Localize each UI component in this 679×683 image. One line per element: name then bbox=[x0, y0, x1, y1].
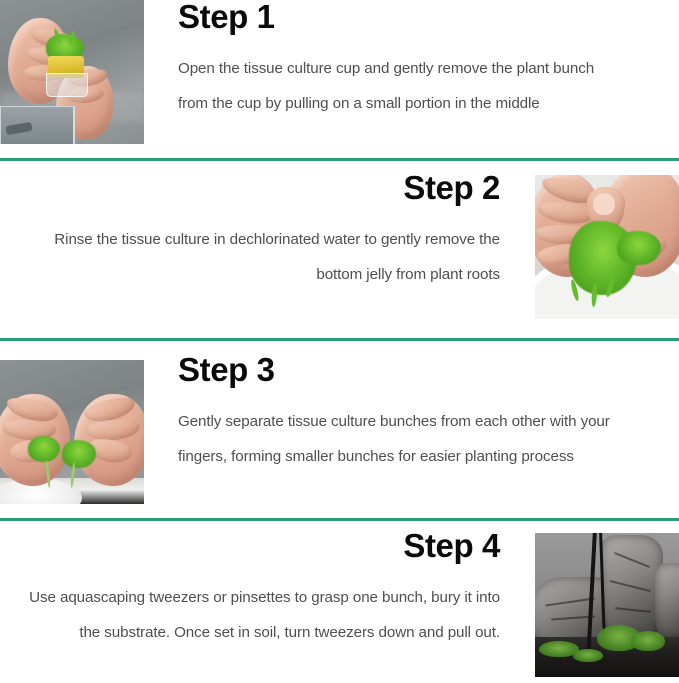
step-1-body: Open the tissue culture cup and gently r… bbox=[178, 51, 615, 121]
step-3-body: Gently separate tissue culture bunches f… bbox=[178, 404, 615, 474]
step-1-photo bbox=[0, 0, 144, 144]
planted-bunch-foreground bbox=[573, 649, 603, 662]
step-3-text-column: Step 3 Gently separate tissue culture bu… bbox=[178, 353, 615, 474]
step-2-text-column: Step 2 Rinse the tissue culture in dechl… bbox=[20, 171, 500, 292]
step-2-photo-art bbox=[535, 175, 679, 319]
step-1-text-column: Step 1 Open the tissue culture cup and g… bbox=[178, 0, 615, 121]
step-4-body: Use aquascaping tweezers or pinsettes to… bbox=[20, 580, 500, 650]
step-3-photo bbox=[0, 360, 144, 504]
step-4-photo-art bbox=[535, 533, 679, 677]
step-2-photo bbox=[535, 175, 679, 319]
plant-bunch-right bbox=[62, 440, 96, 468]
step-3-photo-art bbox=[0, 360, 144, 504]
thumbnail bbox=[593, 193, 615, 215]
step-1-title: Step 1 bbox=[178, 0, 615, 33]
tissue-culture-planting-guide: Step 1 Open the tissue culture cup and g… bbox=[0, 0, 679, 683]
step-4-text-column: Step 4 Use aquascaping tweezers or pinse… bbox=[20, 529, 500, 650]
step-2-title: Step 2 bbox=[20, 171, 500, 204]
planted-bunch-right bbox=[631, 631, 665, 651]
plant-bunch-secondary bbox=[617, 231, 661, 265]
step-block-2: Step 2 Rinse the tissue culture in dechl… bbox=[0, 161, 679, 338]
step-1-photo-art bbox=[0, 0, 144, 144]
step-block-3: Step 3 Gently separate tissue culture bu… bbox=[0, 341, 679, 518]
step-2-body: Rinse the tissue culture in dechlorinate… bbox=[20, 222, 500, 292]
step-4-photo bbox=[535, 533, 679, 677]
rock-far-right bbox=[655, 563, 679, 639]
plant-bunch-left bbox=[28, 436, 60, 462]
tissue-culture-cup-body bbox=[46, 73, 88, 97]
step-3-title: Step 3 bbox=[178, 353, 615, 386]
step-block-4: Step 4 Use aquascaping tweezers or pinse… bbox=[0, 521, 679, 683]
step-4-title: Step 4 bbox=[20, 529, 500, 562]
step-block-1: Step 1 Open the tissue culture cup and g… bbox=[0, 0, 679, 160]
